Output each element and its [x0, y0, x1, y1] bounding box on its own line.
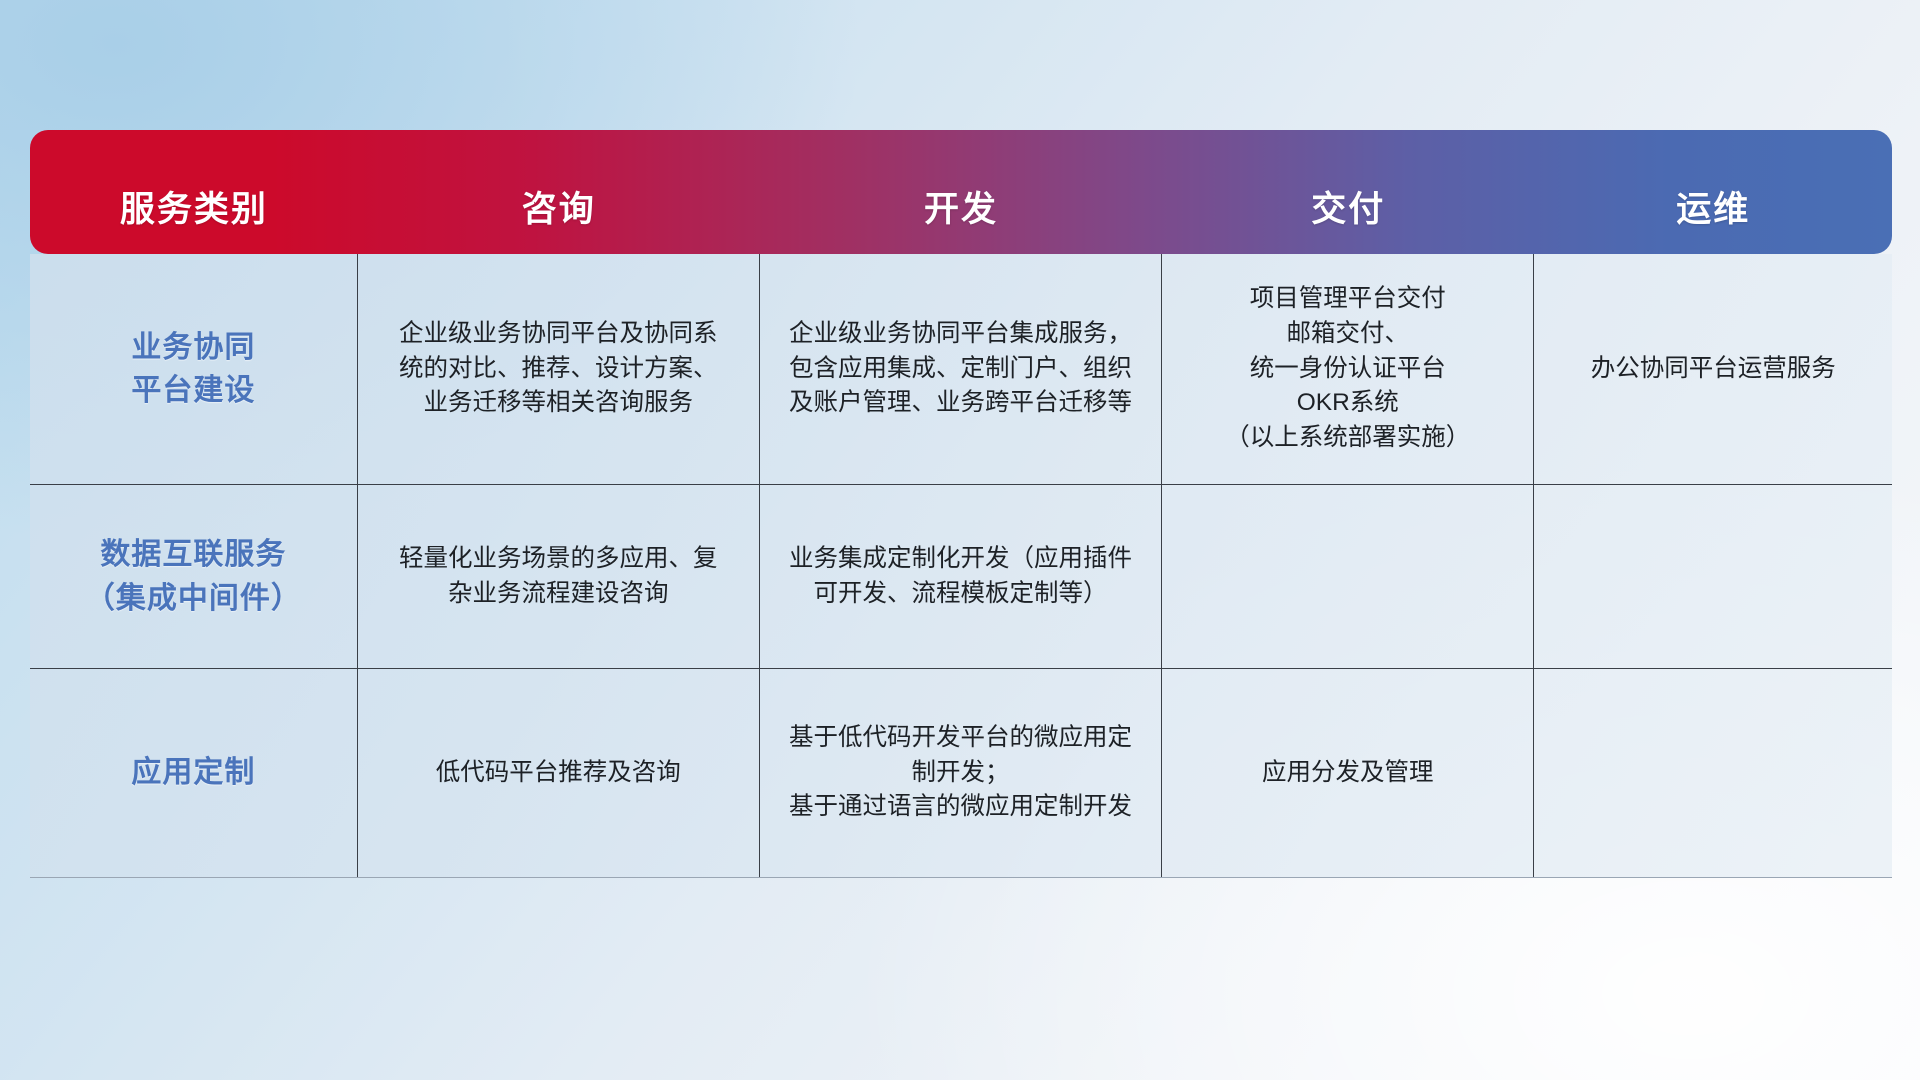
cell-consulting: 企业级业务协同平台及协同系 统的对比、推荐、设计方案、 业务迁移等相关咨询服务: [358, 254, 760, 484]
table-row: 数据互联服务 （集成中间件） 轻量化业务场景的多应用、复 杂业务流程建设咨询 业…: [30, 485, 1892, 669]
cell-consulting: 低代码平台推荐及咨询: [358, 669, 760, 877]
cell-operations: [1534, 485, 1892, 668]
cell-delivery: [1162, 485, 1534, 668]
table-row: 应用定制 低代码平台推荐及咨询 基于低代码开发平台的微应用定 制开发； 基于通过…: [30, 669, 1892, 877]
row-category-label: 业务协同 平台建设: [30, 254, 358, 484]
table-header-row: 服务类别 咨询 开发 交付 运维: [30, 130, 1892, 254]
table-body: 业务协同 平台建设 企业级业务协同平台及协同系 统的对比、推荐、设计方案、 业务…: [30, 254, 1892, 878]
cell-delivery: 项目管理平台交付 邮箱交付、 统一身份认证平台 OKR系统 （以上系统部署实施）: [1162, 254, 1534, 484]
column-header-consulting: 咨询: [358, 130, 760, 254]
cell-development: 企业级业务协同平台集成服务， 包含应用集成、定制门户、组织 及账户管理、业务跨平…: [760, 254, 1162, 484]
column-header-operations: 运维: [1534, 130, 1892, 254]
cell-delivery: 应用分发及管理: [1162, 669, 1534, 877]
cell-consulting: 轻量化业务场景的多应用、复 杂业务流程建设咨询: [358, 485, 760, 668]
slide-canvas: 服务类别 咨询 开发 交付 运维 业务协同 平台建设 企业级业务协同平台及协同系…: [0, 0, 1920, 1080]
row-category-label: 数据互联服务 （集成中间件）: [30, 485, 358, 668]
cell-development: 基于低代码开发平台的微应用定 制开发； 基于通过语言的微应用定制开发: [760, 669, 1162, 877]
column-header-category: 服务类别: [30, 130, 358, 254]
service-matrix-table: 服务类别 咨询 开发 交付 运维 业务协同 平台建设 企业级业务协同平台及协同系…: [30, 130, 1892, 878]
table-row: 业务协同 平台建设 企业级业务协同平台及协同系 统的对比、推荐、设计方案、 业务…: [30, 254, 1892, 485]
cell-development: 业务集成定制化开发（应用插件 可开发、流程模板定制等）: [760, 485, 1162, 668]
column-header-development: 开发: [760, 130, 1162, 254]
row-category-label: 应用定制: [30, 669, 358, 877]
cell-operations: 办公协同平台运营服务: [1534, 254, 1892, 484]
column-header-delivery: 交付: [1162, 130, 1534, 254]
cell-operations: [1534, 669, 1892, 877]
